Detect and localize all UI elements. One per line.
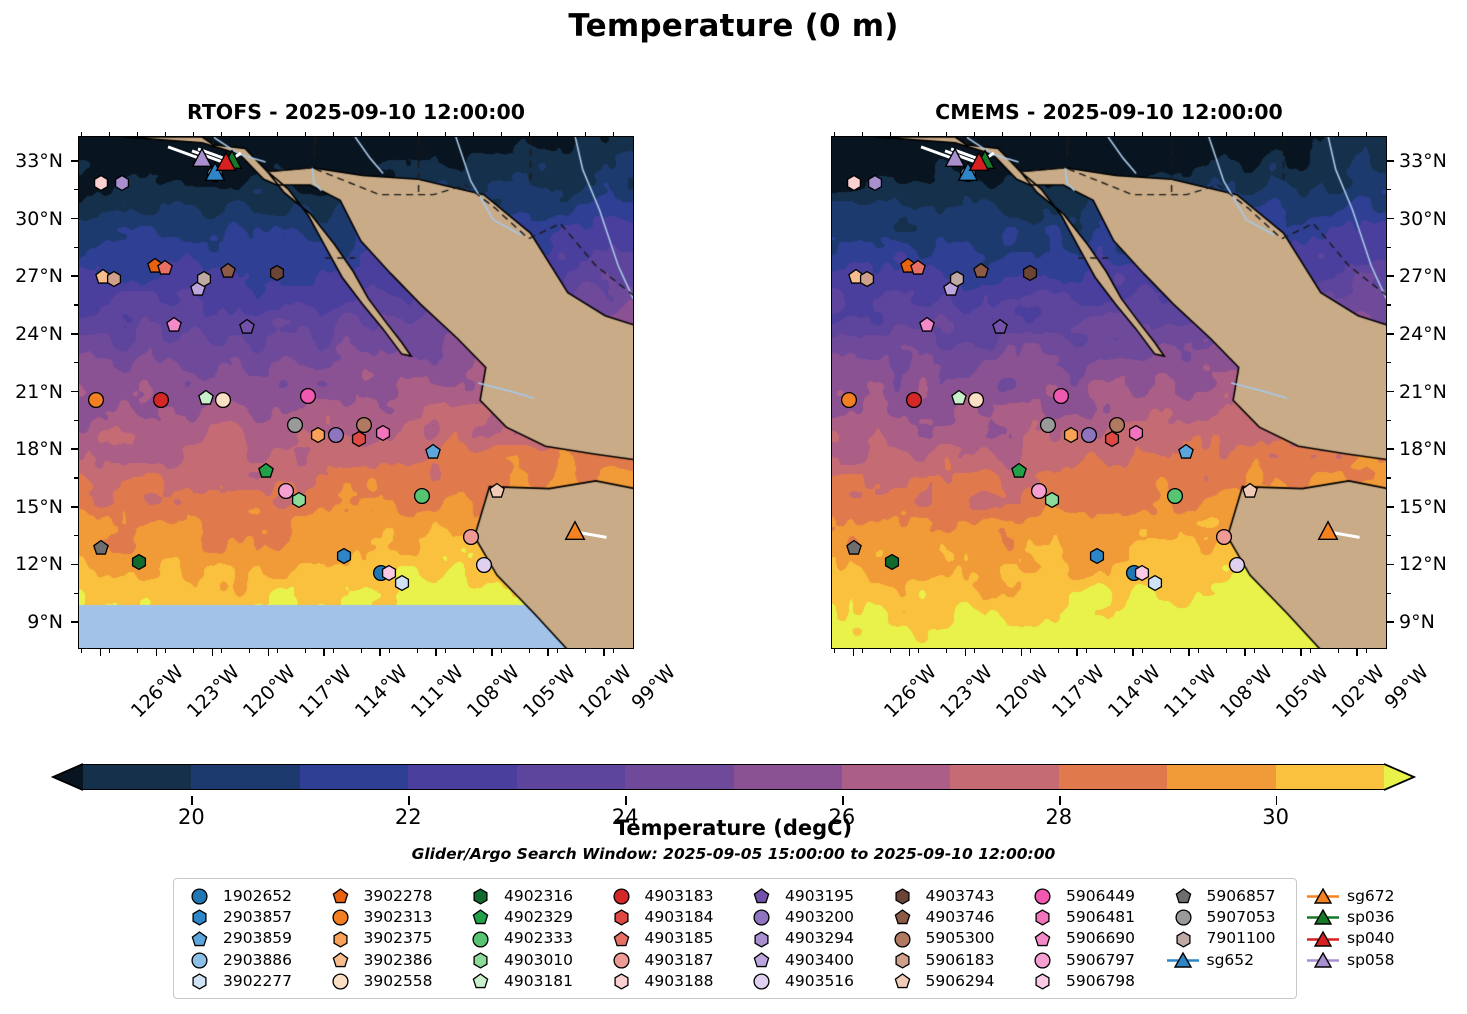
platform-marker-4902333[interactable] xyxy=(414,488,431,505)
platform-marker-2903857[interactable] xyxy=(335,547,352,564)
lat-tick xyxy=(1387,275,1394,277)
colorbar-band xyxy=(191,764,300,790)
lon-tick-minor xyxy=(1366,649,1367,653)
lon-tick xyxy=(1188,649,1190,656)
lon-tick-minor xyxy=(221,649,222,653)
legend-label: 4902316 xyxy=(504,889,573,905)
lon-tick xyxy=(379,649,381,656)
legend-marker-hexagon-icon xyxy=(604,908,638,927)
lon-tick-label: 126°W xyxy=(127,661,188,722)
lat-tick-label: 21°N xyxy=(1399,381,1447,403)
platform-marker-5906449[interactable] xyxy=(300,388,317,405)
platform-marker-4903188[interactable] xyxy=(93,175,110,192)
lon-tick-minor xyxy=(585,649,586,653)
lon-tick-minor xyxy=(109,649,110,653)
legend-item-5906183[interactable]: 5906183 xyxy=(885,950,1026,971)
legend-label: 5906797 xyxy=(1066,953,1135,969)
platform-marker-5905300[interactable] xyxy=(356,417,373,434)
platform-marker-sg672[interactable] xyxy=(1318,520,1339,541)
legend-item-5906690[interactable]: 5906690 xyxy=(1025,929,1166,950)
lon-tick-top xyxy=(1142,132,1143,136)
lat-tick xyxy=(71,621,78,623)
lon-tick-label: 99°W xyxy=(1381,661,1434,714)
lon-tick-top xyxy=(165,132,166,136)
platform-marker-7901100[interactable] xyxy=(949,271,966,288)
lon-tick-label: 105°W xyxy=(519,661,580,722)
legend-marker-circle-icon xyxy=(182,951,216,970)
colorbar-over-arrow xyxy=(1384,764,1414,790)
lon-tick-minor xyxy=(277,649,278,653)
platform-marker-4903294[interactable] xyxy=(866,175,883,192)
lon-tick-minor xyxy=(1142,649,1143,653)
platform-marker-4903743[interactable] xyxy=(268,265,285,282)
lat-tick-label: 12°N xyxy=(0,553,63,575)
platform-marker-4903294[interactable] xyxy=(113,175,130,192)
lat-tick-minor xyxy=(1387,477,1391,478)
platform-marker-3902375[interactable] xyxy=(309,426,326,443)
legend-item-2903859[interactable]: 2903859 xyxy=(182,929,323,950)
legend-label: 4903184 xyxy=(645,910,714,926)
lon-tick-top xyxy=(1254,132,1255,136)
legend-item-3902313[interactable]: 3902313 xyxy=(323,907,464,928)
platform-marker-4903746[interactable] xyxy=(973,263,990,280)
legend-label: 4903010 xyxy=(504,953,573,969)
legend-item-1902652[interactable]: 1902652 xyxy=(182,886,323,907)
platform-marker-sp040[interactable] xyxy=(216,151,237,172)
legend-marker-triangle-line-icon xyxy=(1306,951,1340,970)
platform-marker-3902375[interactable] xyxy=(1062,426,1079,443)
platform-marker-5906183[interactable] xyxy=(859,271,876,288)
legend-item-7901100[interactable]: 7901100 xyxy=(1166,929,1307,950)
legend-marker-circle-icon xyxy=(323,972,357,991)
lat-tick-label: 21°N xyxy=(0,381,63,403)
platform-marker-5905300[interactable] xyxy=(1109,417,1126,434)
legend-item-4902316[interactable]: 4902316 xyxy=(463,886,604,907)
legend-marker-pentagon-icon xyxy=(744,951,778,970)
platform-marker-4903183[interactable] xyxy=(906,392,923,409)
lon-tick-label: 114°W xyxy=(1104,661,1165,722)
lat-tick-label: 12°N xyxy=(1399,553,1447,575)
legend-label: 1902652 xyxy=(223,889,292,905)
legend-item-4903746[interactable]: 4903746 xyxy=(885,907,1026,928)
lat-tick-label: 9°N xyxy=(0,611,63,633)
platform-marker-5906481[interactable] xyxy=(1128,424,1145,441)
lon-tick-top xyxy=(333,132,334,136)
lon-tick-minor xyxy=(918,649,919,653)
lat-tick-minor xyxy=(1387,304,1391,305)
lon-tick-top xyxy=(109,132,110,136)
legend-marker-hexagon-icon xyxy=(463,951,497,970)
legend-marker-hexagon-icon xyxy=(463,887,497,906)
colorbar-tick xyxy=(408,796,410,805)
lon-tick-minor xyxy=(862,649,863,653)
colorbar-band xyxy=(1276,764,1385,790)
platform-marker-5906857[interactable] xyxy=(846,540,863,557)
platform-marker-2903857[interactable] xyxy=(1088,547,1105,564)
legend-item-5905300[interactable]: 5905300 xyxy=(885,929,1026,950)
platform-marker-3902313[interactable] xyxy=(87,392,104,409)
lon-tick-top xyxy=(613,132,614,136)
legend-marker-circle-icon xyxy=(323,908,357,927)
legend-item-5906481[interactable]: 5906481 xyxy=(1025,907,1166,928)
lat-tick-minor xyxy=(74,247,78,248)
legend-item-4903185[interactable]: 4903185 xyxy=(604,929,745,950)
legend-label: 3902386 xyxy=(364,953,433,969)
platform-marker-5907053[interactable] xyxy=(287,417,304,434)
lon-tick-top xyxy=(1282,132,1283,136)
lon-tick-minor xyxy=(1338,649,1339,653)
lon-tick-top xyxy=(221,132,222,136)
legend-marker-pentagon-icon xyxy=(1025,930,1059,949)
lon-tick-minor xyxy=(1198,649,1199,653)
legend-label: 4903195 xyxy=(785,889,854,905)
legend-label: 4903185 xyxy=(645,931,714,947)
legend-label: 4903200 xyxy=(785,910,854,926)
platform-marker-5907053[interactable] xyxy=(1040,417,1057,434)
legend-item-5906797[interactable]: 5906797 xyxy=(1025,950,1166,971)
lon-tick-label: 102°W xyxy=(1328,661,1389,722)
platform-marker-4903200[interactable] xyxy=(1081,426,1098,443)
legend-item-4903187[interactable]: 4903187 xyxy=(604,950,745,971)
lat-tick xyxy=(1387,621,1394,623)
platform-marker-sp040[interactable] xyxy=(969,151,990,172)
legend-marker-pentagon-icon xyxy=(463,972,497,991)
lat-tick xyxy=(71,275,78,277)
legend-label: 4903188 xyxy=(645,974,714,990)
legend-item-3902278[interactable]: 3902278 xyxy=(323,886,464,907)
lon-tick-label: 120°W xyxy=(992,661,1053,722)
legend-label: 4903187 xyxy=(645,953,714,969)
legend-label: 4903294 xyxy=(785,931,854,947)
legend-marker-circle-icon xyxy=(463,930,497,949)
platform-marker-5906797[interactable] xyxy=(1031,482,1048,499)
lon-tick-label: 111°W xyxy=(1160,661,1221,722)
platform-marker-sp058[interactable] xyxy=(192,148,213,169)
colorbar-band xyxy=(300,764,409,790)
lon-tick-top xyxy=(1366,132,1367,136)
panel-title-rtofs: RTOFS - 2025-09-10 12:00:00 xyxy=(78,100,634,124)
lon-tick-top xyxy=(277,132,278,136)
legend-item-4903516[interactable]: 4903516 xyxy=(744,971,885,992)
lat-tick xyxy=(1387,448,1394,450)
lon-tick-label: 117°W xyxy=(295,661,356,722)
lon-tick xyxy=(491,649,493,656)
lon-tick-minor xyxy=(193,649,194,653)
legend-item-3902277[interactable]: 3902277 xyxy=(182,971,323,992)
lon-tick-top xyxy=(1338,132,1339,136)
legend-marker-circle-icon xyxy=(604,887,638,906)
platform-marker-4903743[interactable] xyxy=(1021,265,1038,282)
lat-tick-minor xyxy=(1387,189,1391,190)
platform-marker-5906294[interactable] xyxy=(488,482,505,499)
lon-tick-top xyxy=(585,132,586,136)
lat-tick-minor xyxy=(1387,247,1391,248)
lon-tick-top xyxy=(361,132,362,136)
legend-item-4903195[interactable]: 4903195 xyxy=(744,886,885,907)
legend-item-4903294[interactable]: 4903294 xyxy=(744,929,885,950)
legend-item-4903184[interactable]: 4903184 xyxy=(604,907,745,928)
map-frame-cmems[interactable] xyxy=(831,136,1387,649)
legend-marker-circle-icon xyxy=(1025,951,1059,970)
legend-label: 4903400 xyxy=(785,953,854,969)
platform-marker-sg672[interactable] xyxy=(565,520,586,541)
legend-item-5906294[interactable]: 5906294 xyxy=(885,971,1026,992)
platform-marker-7901100[interactable] xyxy=(196,271,213,288)
lat-tick-minor xyxy=(1387,535,1391,536)
legend-marker-circle-icon xyxy=(182,887,216,906)
legend-item-4902333[interactable]: 4902333 xyxy=(463,929,604,950)
legend-item-2903857[interactable]: 2903857 xyxy=(182,907,323,928)
lat-tick xyxy=(71,506,78,508)
platform-marker-4903516[interactable] xyxy=(475,557,492,574)
lon-tick-top xyxy=(1198,132,1199,136)
legend-item-4903010[interactable]: 4903010 xyxy=(463,950,604,971)
platform-marker-5906798[interactable] xyxy=(1133,565,1150,582)
lat-tick-label: 24°N xyxy=(1399,323,1447,345)
platform-legend[interactable]: 1902652390227849023164903183490319549037… xyxy=(173,878,1297,999)
legend-marker-hexagon-icon xyxy=(604,972,638,991)
platform-marker-4903746[interactable] xyxy=(220,263,237,280)
platform-marker-4903188[interactable] xyxy=(846,175,863,192)
platform-marker-4902329[interactable] xyxy=(257,463,274,480)
legend-item-4903181[interactable]: 4903181 xyxy=(463,971,604,992)
colorbar-tick xyxy=(191,796,193,805)
lon-tick-minor xyxy=(834,649,835,653)
legend-label: 3902313 xyxy=(364,910,433,926)
legend-item-4903400[interactable]: 4903400 xyxy=(744,950,885,971)
lat-tick-minor xyxy=(74,189,78,190)
platform-marker-5906690[interactable] xyxy=(166,317,183,334)
lat-tick xyxy=(1387,391,1394,393)
colorbar-band xyxy=(950,764,1059,790)
lon-tick-minor xyxy=(1310,649,1311,653)
lon-tick-minor xyxy=(501,649,502,653)
legend-label: 4903743 xyxy=(926,889,995,905)
lon-tick-minor xyxy=(529,649,530,653)
lon-tick xyxy=(1300,649,1302,656)
legend-item-4903183[interactable]: 4903183 xyxy=(604,886,745,907)
legend-marker-pentagon-icon xyxy=(885,972,919,991)
lon-tick-top xyxy=(501,132,502,136)
platform-marker-4902333[interactable] xyxy=(1167,488,1184,505)
platform-marker-4903195[interactable] xyxy=(238,319,255,336)
map-frame-rtofs[interactable] xyxy=(78,136,634,649)
lat-tick-label: 27°N xyxy=(1399,265,1447,287)
platform-marker-5906690[interactable] xyxy=(919,317,936,334)
legend-marker-triangle-line-icon xyxy=(1306,930,1340,949)
legend-label: 5906481 xyxy=(1066,910,1135,926)
lon-tick-top xyxy=(529,132,530,136)
legend-item-3902558[interactable]: 3902558 xyxy=(323,971,464,992)
legend-label: 5905300 xyxy=(926,931,995,947)
platform-marker-4903181[interactable] xyxy=(197,390,214,407)
legend-label: 4903181 xyxy=(504,974,573,990)
legend-item-4903743[interactable]: 4903743 xyxy=(885,886,1026,907)
legend-marker-pentagon-icon xyxy=(323,887,357,906)
legend-label: 3902278 xyxy=(364,889,433,905)
platform-marker-3902313[interactable] xyxy=(840,392,857,409)
legend-item-5906857[interactable]: 5906857 xyxy=(1166,886,1307,907)
legend-grid: 1902652390227849023164903183490319549037… xyxy=(182,886,1395,992)
colorbar-tick xyxy=(842,796,844,805)
platform-marker-5906857[interactable] xyxy=(93,540,110,557)
colorbar-band xyxy=(625,764,734,790)
legend-marker-hexagon-icon xyxy=(885,951,919,970)
lon-tick-minor xyxy=(473,649,474,653)
lat-tick-label: 30°N xyxy=(1399,208,1447,230)
platform-marker-4902316[interactable] xyxy=(130,553,147,570)
platform-marker-4903183[interactable] xyxy=(153,392,170,409)
legend-item-5906798[interactable]: 5906798 xyxy=(1025,971,1166,992)
platform-marker-4902316[interactable] xyxy=(883,553,900,570)
platform-marker-5906449[interactable] xyxy=(1053,388,1070,405)
legend-item-sg652[interactable]: sg652 xyxy=(1166,950,1307,971)
lon-tick xyxy=(1132,649,1134,656)
legend-cell-empty xyxy=(1306,971,1395,992)
legend-marker-hexagon-icon xyxy=(744,930,778,949)
legend-marker-pentagon-icon xyxy=(604,930,638,949)
legend-label: 5907053 xyxy=(1207,910,1276,926)
legend-marker-triangle-line-icon xyxy=(1306,887,1340,906)
legend-label: sg672 xyxy=(1347,889,1395,905)
lat-tick xyxy=(1387,333,1394,335)
platform-marker-4903185[interactable] xyxy=(156,259,173,276)
legend-label: 5906449 xyxy=(1066,889,1135,905)
lon-tick-label: 120°W xyxy=(239,661,300,722)
lon-tick xyxy=(965,649,967,656)
legend-item-3902386[interactable]: 3902386 xyxy=(323,950,464,971)
platform-marker-5906797[interactable] xyxy=(278,482,295,499)
lon-tick-label: 117°W xyxy=(1048,661,1109,722)
legend-label: 5906294 xyxy=(926,974,995,990)
figure-title: Temperature (0 m) xyxy=(0,8,1467,44)
platform-marker-2903859[interactable] xyxy=(1178,444,1195,461)
legend-label: 3902558 xyxy=(364,974,433,990)
lat-tick-label: 18°N xyxy=(0,438,63,460)
legend-marker-hexagon-icon xyxy=(1025,972,1059,991)
legend-item-sp040[interactable]: sp040 xyxy=(1306,929,1395,950)
legend-label: 3902375 xyxy=(364,931,433,947)
lon-tick-minor xyxy=(1030,649,1031,653)
legend-item-4902329[interactable]: 4902329 xyxy=(463,907,604,928)
platform-marker-2903859[interactable] xyxy=(425,444,442,461)
colorbar-tick xyxy=(1276,796,1278,805)
lon-tick-top xyxy=(918,132,919,136)
lon-tick xyxy=(323,649,325,656)
lon-tick xyxy=(1021,649,1023,656)
lon-tick-minor xyxy=(1058,649,1059,653)
lon-tick-minor xyxy=(165,649,166,653)
legend-label: 4903746 xyxy=(926,910,995,926)
platform-marker-5906294[interactable] xyxy=(1241,482,1258,499)
lon-tick xyxy=(909,649,911,656)
colorbar-gradient xyxy=(53,764,1414,790)
platform-marker-3902558[interactable] xyxy=(214,392,231,409)
lat-tick xyxy=(1387,506,1394,508)
legend-marker-hexagon-icon xyxy=(885,887,919,906)
legend-label: sp036 xyxy=(1347,910,1395,926)
colorbar-tick xyxy=(1059,796,1061,805)
platform-marker-4903195[interactable] xyxy=(991,319,1008,336)
legend-item-4903200[interactable]: 4903200 xyxy=(744,907,885,928)
lon-tick-minor xyxy=(81,649,82,653)
legend-marker-circle-icon xyxy=(744,908,778,927)
lon-tick-label: 99°W xyxy=(628,661,681,714)
lon-tick-minor xyxy=(389,649,390,653)
legend-item-sg672[interactable]: sg672 xyxy=(1306,886,1395,907)
platform-marker-3902558[interactable] xyxy=(967,392,984,409)
lat-tick-label: 30°N xyxy=(0,208,63,230)
legend-marker-pentagon-icon xyxy=(463,908,497,927)
platform-marker-5906183[interactable] xyxy=(106,271,123,288)
lat-tick-label: 27°N xyxy=(0,265,63,287)
lon-tick-top xyxy=(1170,132,1171,136)
lon-tick xyxy=(268,649,270,656)
platform-marker-4903516[interactable] xyxy=(1228,557,1245,574)
platform-marker-4903187[interactable] xyxy=(462,528,479,545)
legend-item-3902375[interactable]: 3902375 xyxy=(323,929,464,950)
legend-label: 7901100 xyxy=(1207,931,1276,947)
legend-item-5907053[interactable]: 5907053 xyxy=(1166,907,1307,928)
lat-tick-minor xyxy=(1387,420,1391,421)
lon-tick-minor xyxy=(1254,649,1255,653)
lon-tick-top xyxy=(305,132,306,136)
lon-tick-top xyxy=(417,132,418,136)
lon-tick-top xyxy=(1310,132,1311,136)
legend-marker-hexagon-icon xyxy=(182,908,216,927)
lon-tick-top xyxy=(862,132,863,136)
colorbar-band xyxy=(734,764,843,790)
map-panel-rtofs[interactable]: RTOFS - 2025-09-10 12:00:00 xyxy=(78,136,634,649)
lat-tick-minor xyxy=(74,477,78,478)
legend-item-sp036[interactable]: sp036 xyxy=(1306,907,1395,928)
lon-tick-minor xyxy=(1282,649,1283,653)
platform-marker-4902329[interactable] xyxy=(1010,463,1027,480)
platform-marker-5906798[interactable] xyxy=(380,565,397,582)
platform-marker-4903187[interactable] xyxy=(1215,528,1232,545)
legend-marker-hexagon-icon xyxy=(1025,908,1059,927)
legend-item-4903188[interactable]: 4903188 xyxy=(604,971,745,992)
lon-tick-minor xyxy=(249,649,250,653)
legend-item-5906449[interactable]: 5906449 xyxy=(1025,886,1166,907)
lon-tick-top xyxy=(137,132,138,136)
legend-marker-triangle-line-icon xyxy=(1166,951,1200,970)
lon-tick-minor xyxy=(417,649,418,653)
legend-label: sp058 xyxy=(1347,953,1395,969)
legend-label: 2903859 xyxy=(223,931,292,947)
lon-tick xyxy=(547,649,549,656)
lon-tick-top xyxy=(473,132,474,136)
lon-tick-label: 102°W xyxy=(575,661,636,722)
legend-label: sg652 xyxy=(1207,953,1255,969)
legend-item-2903886[interactable]: 2903886 xyxy=(182,950,323,971)
platform-marker-4903200[interactable] xyxy=(328,426,345,443)
legend-marker-pentagon-icon xyxy=(885,908,919,927)
legend-label: 4902333 xyxy=(504,931,573,947)
platform-marker-sp058[interactable] xyxy=(945,148,966,169)
lat-tick-minor xyxy=(74,362,78,363)
map-panel-cmems[interactable]: CMEMS - 2025-09-10 12:00:00 xyxy=(831,136,1387,649)
lat-tick-minor xyxy=(1387,593,1391,594)
legend-label: 5906690 xyxy=(1066,931,1135,947)
legend-label: 4903516 xyxy=(785,974,854,990)
lon-tick-minor xyxy=(1114,649,1115,653)
platform-marker-5906481[interactable] xyxy=(375,424,392,441)
platform-marker-4903185[interactable] xyxy=(909,259,926,276)
legend-marker-pentagon-icon xyxy=(744,887,778,906)
legend-item-sp058[interactable]: sp058 xyxy=(1306,950,1395,971)
platform-marker-4903181[interactable] xyxy=(950,390,967,407)
